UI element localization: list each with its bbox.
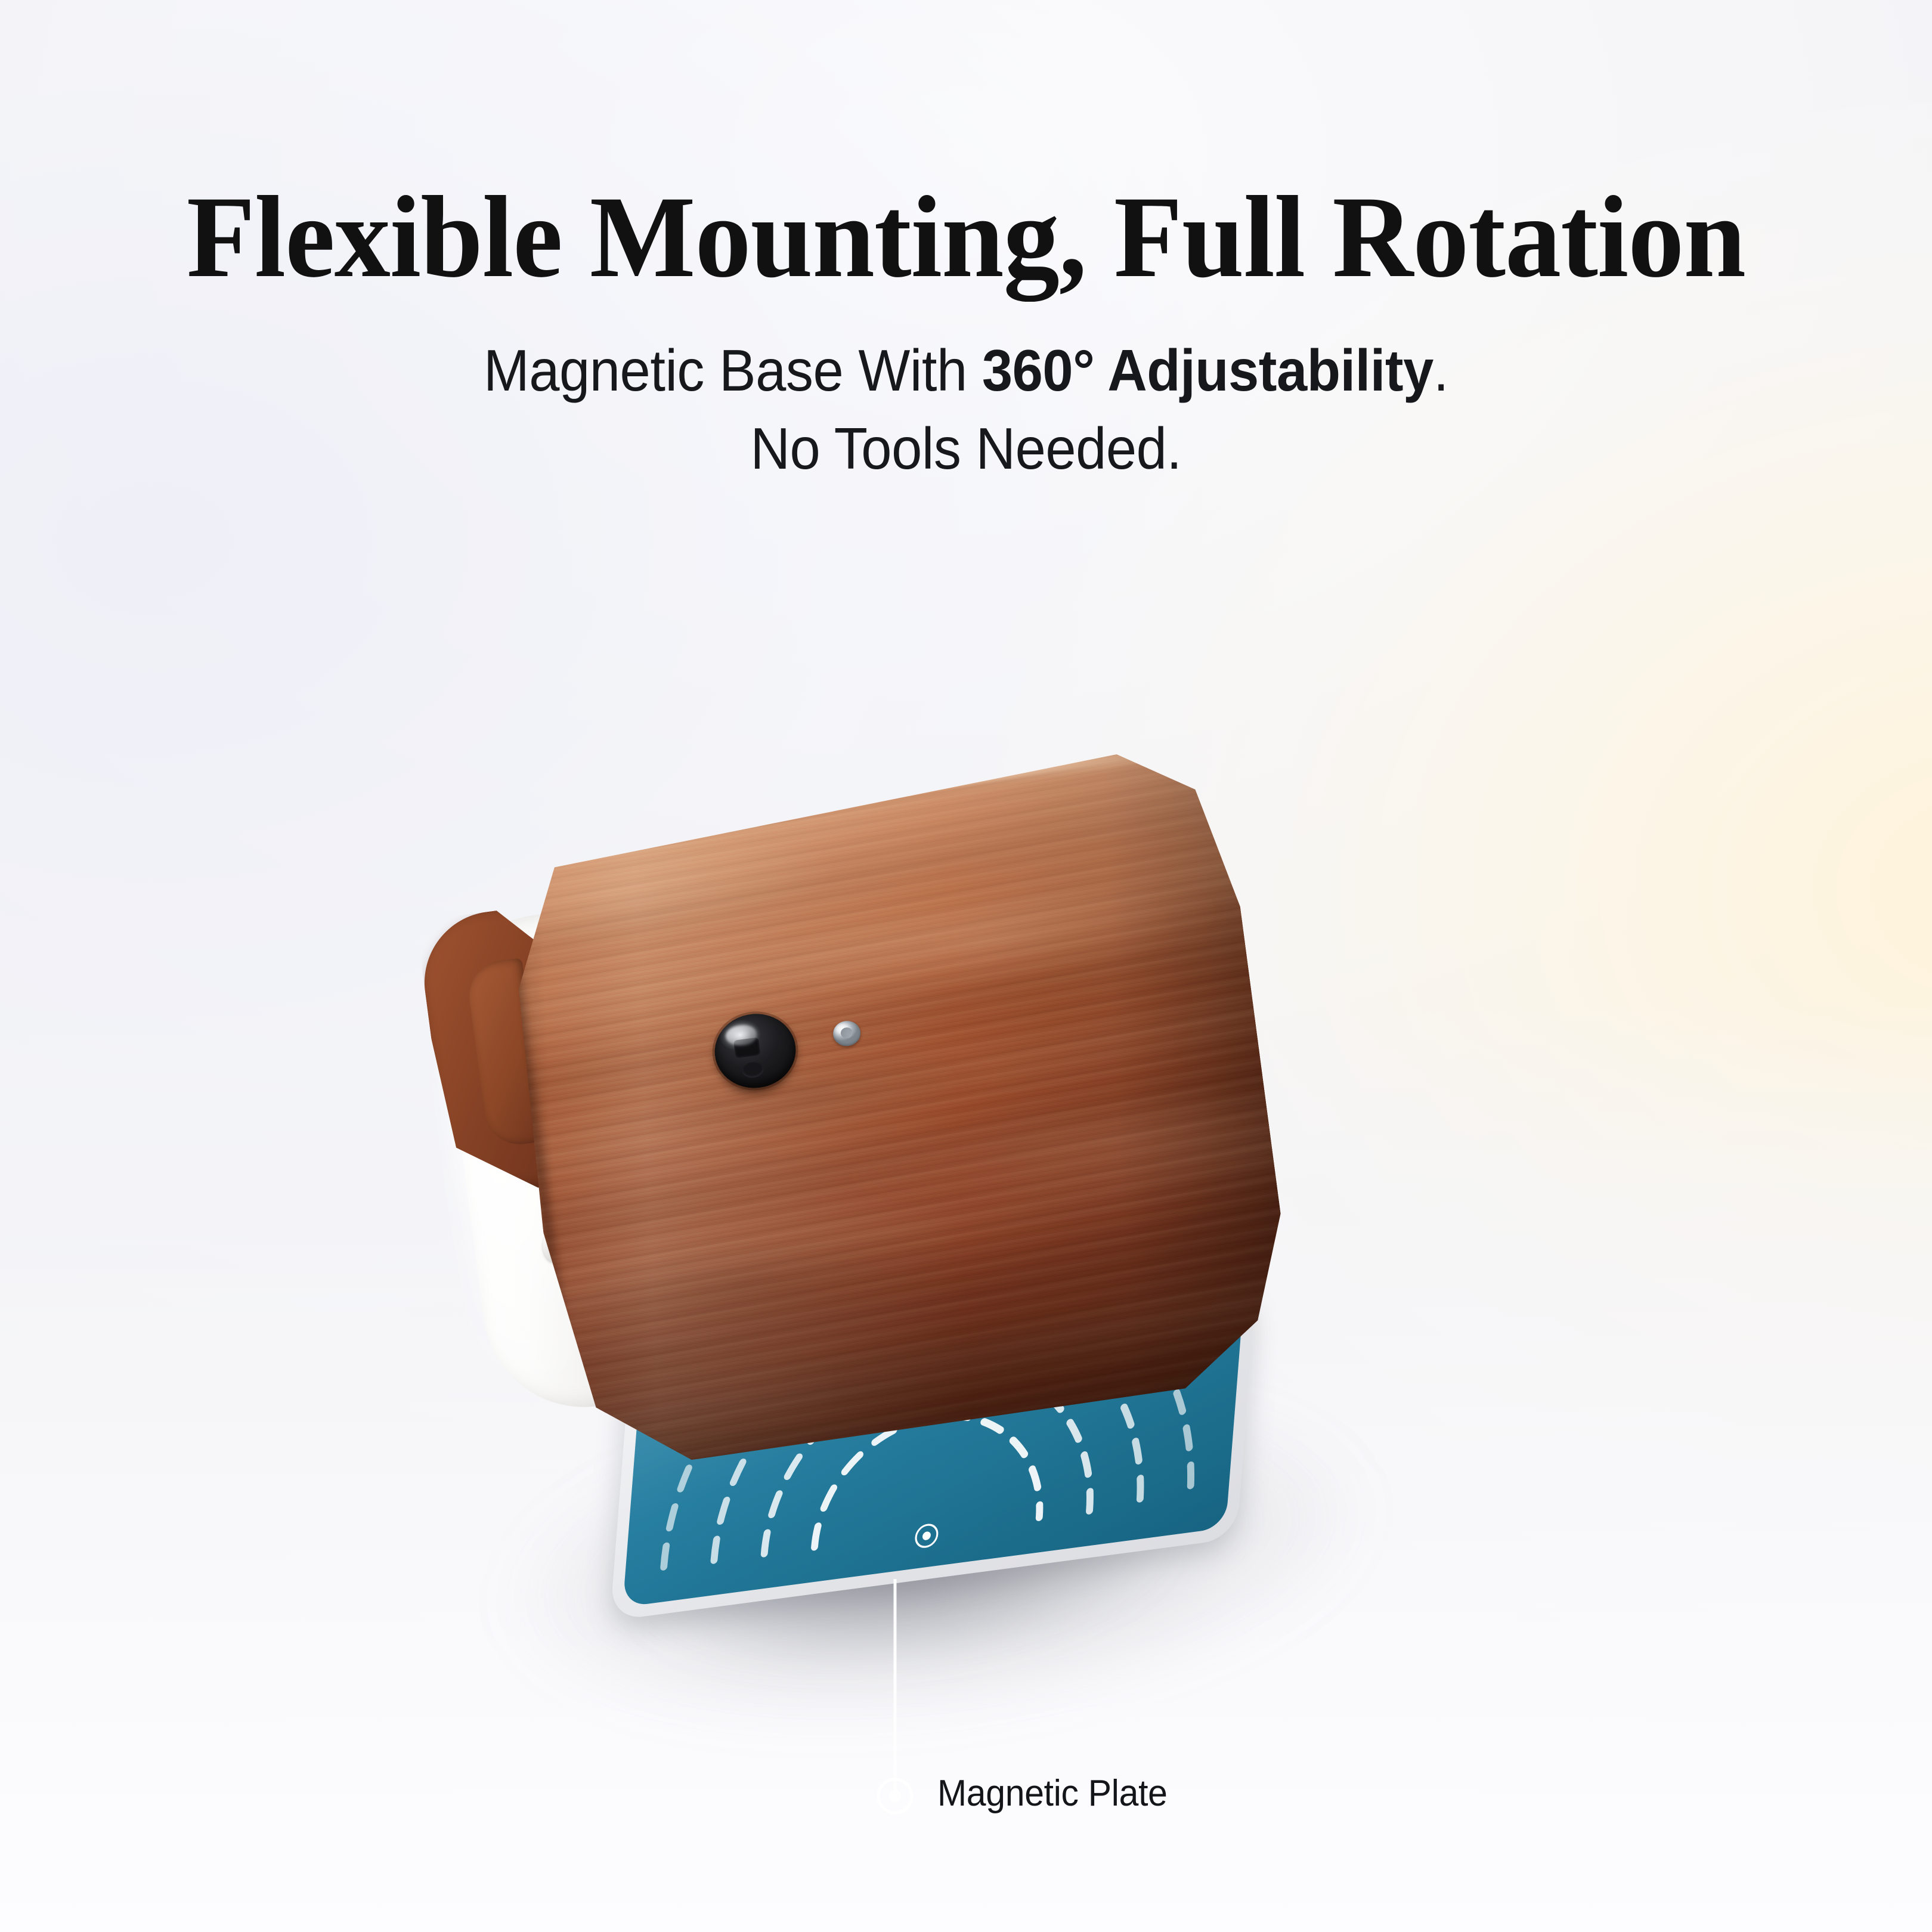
page-subtitle: Magnetic Base With 360° Adjustability. N… — [58, 296, 1874, 488]
product-assembly — [411, 775, 1461, 1670]
marketing-copy-block: Flexible Mounting, Full Rotation Magneti… — [0, 179, 1932, 488]
magnetic-plate-origin-marker-icon — [912, 1521, 940, 1551]
pir-lower-facet — [741, 1061, 764, 1079]
subtitle-suffix: . — [1433, 338, 1448, 403]
subtitle-line-2: No Tools Needed. — [750, 416, 1181, 481]
callout-label-magnetic-plate: Magnetic Plate — [937, 1772, 1168, 1815]
page-headline: Flexible Mounting, Full Rotation — [39, 179, 1893, 296]
subtitle-emphasis: 360° Adjustability — [982, 338, 1433, 403]
wood-body — [491, 741, 1302, 1475]
subtitle-prefix: Magnetic Base With — [484, 338, 982, 403]
light-sensor-core — [840, 1027, 853, 1039]
wood-shade — [371, 720, 1335, 1509]
product-hero-canvas: Flexible Mounting, Full Rotation Magneti… — [0, 0, 1932, 1932]
